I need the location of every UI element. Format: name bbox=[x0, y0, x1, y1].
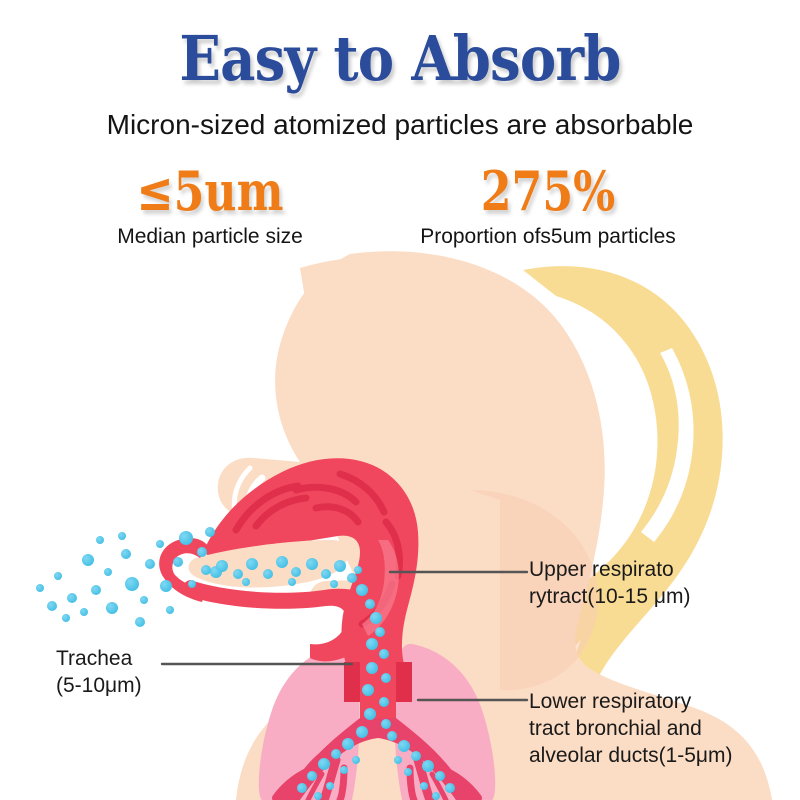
callout-upper-respiratory-tract: Upper respirato rytract(10-15 μm) bbox=[529, 556, 779, 610]
stat-proportion: 275% Proportion ofs5um particles bbox=[378, 162, 718, 250]
infographic-page: Easy to Absorb Micron-sized atomized par… bbox=[0, 0, 800, 800]
stat-median-particle-size: ≤5um Median particle size bbox=[40, 162, 380, 250]
stat-proportion-value: 275% bbox=[409, 162, 688, 220]
stat-median-value: ≤5um bbox=[71, 162, 350, 220]
page-subtitle: Micron-sized atomized particles are abso… bbox=[0, 108, 800, 142]
callout-lower-respiratory-tract: Lower respiratory tract bronchial and al… bbox=[529, 688, 791, 769]
callout-trachea: Trachea (5-10μm) bbox=[56, 645, 256, 699]
page-title: Easy to Absorb bbox=[48, 26, 752, 92]
